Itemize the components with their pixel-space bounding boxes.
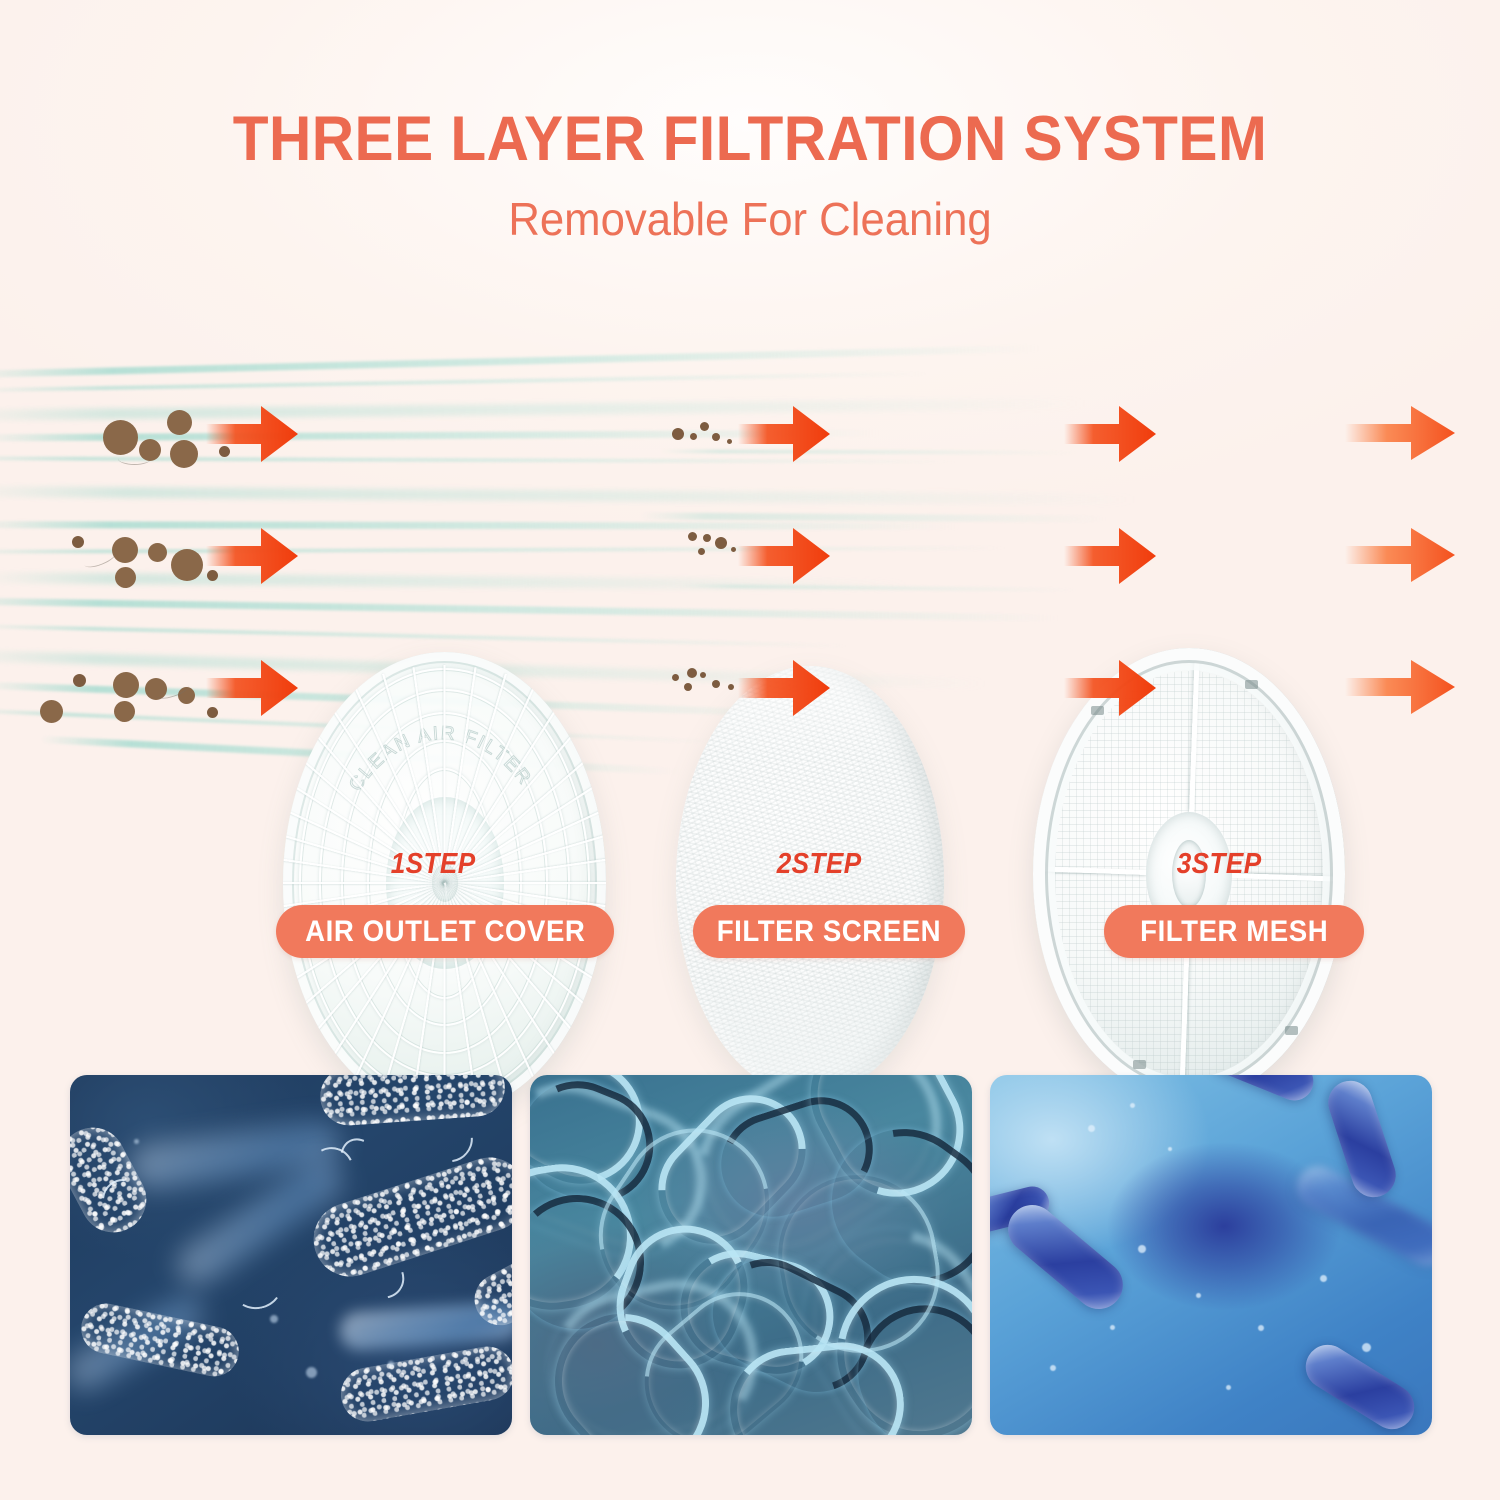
microscopy-card-3[interactable] bbox=[990, 1075, 1432, 1435]
airflow-arrow-mesh-1 bbox=[1064, 404, 1156, 464]
card3-background bbox=[990, 1075, 1432, 1435]
disc3-clip-tab bbox=[1245, 680, 1258, 689]
airflow-arrow-in-3 bbox=[206, 658, 298, 718]
bacteria-bacillus bbox=[998, 1195, 1132, 1319]
disc-filter-screen bbox=[676, 666, 944, 1096]
infographic-page: THREE LAYER FILTRATION SYSTEM Removable … bbox=[0, 0, 1500, 1500]
disc2-sheen bbox=[676, 666, 944, 1096]
bacteria-rod bbox=[318, 1075, 507, 1127]
step-pill-air-outlet-cover[interactable]: AIR OUTLET COVER bbox=[276, 905, 614, 958]
disc-air-outlet-cover: CLEAN AIR FILTER bbox=[283, 652, 606, 1114]
step-label-3: 3STEP bbox=[1177, 848, 1262, 881]
bacteria-bacillus bbox=[1203, 1075, 1319, 1106]
airflow-arrow-mesh-2 bbox=[1064, 526, 1156, 586]
airflow-arrow-mid-3 bbox=[738, 658, 830, 718]
disc1-rib bbox=[445, 882, 607, 884]
microscopy-gallery bbox=[70, 1075, 1432, 1435]
microscopy-card-1[interactable] bbox=[70, 1075, 512, 1435]
step-pill-filter-screen[interactable]: FILTER SCREEN bbox=[693, 905, 965, 958]
airflow-arrow-out-1 bbox=[1345, 404, 1455, 462]
airflow-arrow-mid-2 bbox=[738, 526, 830, 586]
step-label-2: 2STEP bbox=[777, 848, 862, 881]
disc1-rib bbox=[283, 882, 445, 884]
filtration-diagram: CLEAN AIR FILTER (function(){ var d = do… bbox=[0, 300, 1500, 840]
step-pill-label-1: AIR OUTLET COVER bbox=[305, 915, 585, 949]
step-pill-filter-mesh[interactable]: FILTER MESH bbox=[1104, 905, 1364, 958]
bacteria-rod bbox=[337, 1342, 512, 1426]
airflow-arrow-in-2 bbox=[206, 526, 298, 586]
microscopy-card-2[interactable] bbox=[530, 1075, 972, 1435]
page-subtitle: Removable For Cleaning bbox=[38, 196, 1463, 242]
airflow-arrow-mid-1 bbox=[738, 404, 830, 464]
step-pill-label-3: FILTER MESH bbox=[1140, 915, 1328, 949]
airflow-arrow-in-1 bbox=[206, 404, 298, 464]
airflow-arrow-out-2 bbox=[1345, 526, 1455, 584]
disc3-clip-tab bbox=[1133, 1060, 1146, 1069]
card2-background bbox=[530, 1075, 972, 1435]
step-pill-label-2: FILTER SCREEN bbox=[717, 915, 941, 949]
step-label-1: 1STEP bbox=[391, 848, 476, 881]
card1-background bbox=[70, 1075, 512, 1435]
bacteria-bacillus bbox=[1297, 1337, 1422, 1435]
page-title: THREE LAYER FILTRATION SYSTEM bbox=[53, 108, 1448, 171]
airflow-arrow-out-3 bbox=[1345, 658, 1455, 716]
airflow-arrow-mesh-3 bbox=[1064, 658, 1156, 718]
disc3-clip-tab bbox=[1285, 1026, 1298, 1035]
